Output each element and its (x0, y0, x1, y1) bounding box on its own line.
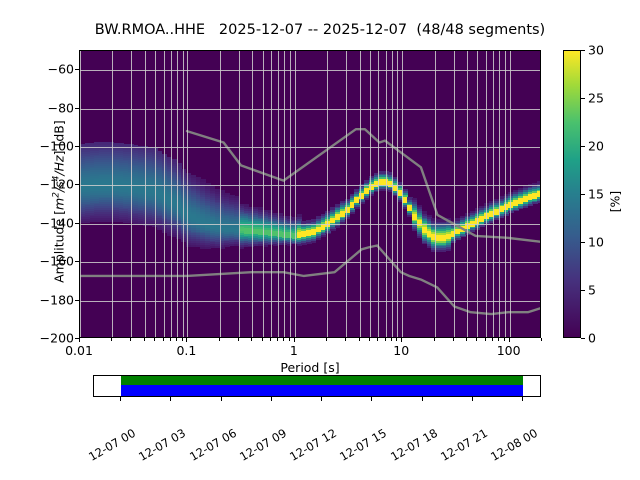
low-noise-model-curve (80, 245, 540, 314)
noise-model-curves (80, 51, 540, 337)
gridline-vertical-minor (486, 51, 487, 337)
gridline-vertical-minor (477, 51, 478, 337)
x-tick (294, 338, 295, 342)
x-tick-minor (504, 338, 505, 341)
gridline-vertical-minor (112, 51, 113, 337)
colorbar-ticklabel: 25 (588, 91, 604, 106)
gridline-vertical-minor (467, 51, 468, 337)
gridline-vertical-minor (278, 51, 279, 337)
x-tick-minor (377, 338, 378, 341)
coverage-tick (221, 397, 222, 401)
coverage-ticklabel: 12-07 06 (187, 426, 239, 464)
y-tick (75, 146, 79, 147)
gridline-horizontal (80, 224, 540, 225)
gridline-horizontal (80, 185, 540, 186)
y-tick (75, 338, 79, 339)
x-tick-minor (130, 338, 131, 341)
coverage-bar-green (121, 376, 523, 385)
coverage-ticklabel: 12-07 18 (388, 426, 440, 464)
x-tick-minor (345, 338, 346, 341)
x-tick-minor (111, 338, 112, 341)
x-tick-minor (498, 338, 499, 341)
x-axis-title: Period [s] (79, 360, 541, 375)
y-tick (75, 108, 79, 109)
gridline-vertical-minor (454, 51, 455, 337)
x-tick-minor (476, 338, 477, 341)
x-tick (186, 338, 187, 342)
gridline-vertical (402, 51, 403, 337)
x-tick-minor (270, 338, 271, 341)
colorbar-ticklabel: 15 (588, 187, 604, 202)
ppsd-figure: BW.RMOA..HHE 2025-12-07 -- 2025-12-07 (4… (0, 0, 640, 480)
x-tick-minor (385, 338, 386, 341)
y-axis-unit-s: /s (52, 181, 67, 192)
gridline-vertical-minor (252, 51, 253, 337)
figure-title: BW.RMOA..HHE 2025-12-07 -- 2025-12-07 (4… (0, 22, 640, 38)
x-tick-minor (541, 338, 542, 341)
coverage-tick (522, 397, 523, 401)
coverage-ticklabel: 12-08 00 (488, 426, 540, 464)
gridline-vertical-minor (155, 51, 156, 337)
y-axis-title: Amplitude [m2/s4/Hz] [dB] (51, 57, 66, 347)
x-tick-minor (391, 338, 392, 341)
coverage-ticklabel: 12-07 21 (438, 426, 490, 464)
coverage-tick (120, 397, 121, 401)
colorbar-ticklabel: 10 (588, 235, 604, 250)
colorbar-ticklabel: 0 (588, 331, 596, 346)
x-tick-minor (182, 338, 183, 341)
gridline-vertical-minor (378, 51, 379, 337)
y-tick (75, 69, 79, 70)
coverage-tick (271, 397, 272, 401)
colorbar-tick (581, 146, 585, 147)
y-axis-title-prefix: Amplitude [ (52, 210, 67, 283)
gridline-vertical-minor (271, 51, 272, 337)
x-ticklabel: 10 (393, 343, 409, 358)
gridline-vertical-minor (145, 51, 146, 337)
y-axis-unit-m: m (52, 198, 67, 210)
colorbar-title: [%] (607, 191, 622, 213)
gridline-horizontal (80, 109, 540, 110)
x-tick-minor (277, 338, 278, 341)
coverage-bar-blue (121, 385, 523, 396)
gridline-horizontal (80, 262, 540, 263)
gridline-vertical-minor (290, 51, 291, 337)
gridline-horizontal (80, 301, 540, 302)
x-tick-minor (262, 338, 263, 341)
gridline-vertical (187, 51, 188, 337)
gridline-vertical-minor (505, 51, 506, 337)
x-tick-minor (453, 338, 454, 341)
gridline-vertical-minor (346, 51, 347, 337)
y-tick (75, 184, 79, 185)
x-tick-minor (154, 338, 155, 341)
gridline-horizontal (80, 147, 540, 148)
y-axis-unit-hz: /Hz (52, 155, 67, 175)
x-tick-minor (238, 338, 239, 341)
coverage-tick (371, 397, 372, 401)
x-ticklabel: 1 (290, 343, 298, 358)
coverage-tick (321, 397, 322, 401)
gridline-vertical-minor (397, 51, 398, 337)
x-tick-minor (219, 338, 220, 341)
colorbar[interactable] (563, 50, 581, 338)
x-tick-minor (434, 338, 435, 341)
x-tick-minor (283, 338, 284, 341)
y-tick (75, 261, 79, 262)
gridline-vertical (295, 51, 296, 337)
x-tick-minor (144, 338, 145, 341)
colorbar-tick (581, 194, 585, 195)
gridline-vertical-minor (284, 51, 285, 337)
colorbar-tick (581, 338, 585, 339)
colorbar-ticklabel: 5 (588, 283, 596, 298)
x-tick (79, 338, 80, 342)
colorbar-tick (581, 290, 585, 291)
x-tick-minor (176, 338, 177, 341)
x-ticklabel: 100 (497, 343, 521, 358)
y-tick (75, 223, 79, 224)
gridline-vertical-minor (360, 51, 361, 337)
colorbar-tick (581, 242, 585, 243)
gridline-vertical-minor (177, 51, 178, 337)
gridline-vertical-minor (171, 51, 172, 337)
gridline-vertical (80, 51, 81, 337)
x-tick-minor (396, 338, 397, 341)
colorbar-ticklabel: 30 (588, 43, 604, 58)
y-tick (75, 300, 79, 301)
gridline-vertical-minor (239, 51, 240, 337)
gridline-vertical-minor (435, 51, 436, 337)
colorbar-tick (581, 50, 585, 51)
x-ticklabel: 0.1 (176, 343, 196, 358)
coverage-ticklabel: 12-07 12 (287, 426, 339, 464)
gridline-vertical-minor (164, 51, 165, 337)
gridline-vertical-minor (131, 51, 132, 337)
gridline-vertical-minor (493, 51, 494, 337)
coverage-ticklabel: 12-07 00 (86, 426, 138, 464)
gridline-vertical-minor (183, 51, 184, 337)
gridline-vertical (510, 51, 511, 337)
gridline-vertical-minor (263, 51, 264, 337)
x-tick-minor (289, 338, 290, 341)
y-axis-title-suffix: ] [dB] (52, 120, 67, 155)
y-axis-unit-exp-4: 4 (51, 176, 61, 182)
x-tick-minor (466, 338, 467, 341)
coverage-tick (170, 397, 171, 401)
coverage-ticklabel: 12-07 15 (337, 426, 389, 464)
gridline-vertical-minor (370, 51, 371, 337)
x-tick-minor (359, 338, 360, 341)
x-tick-minor (492, 338, 493, 341)
x-tick-minor (369, 338, 370, 341)
x-tick-minor (251, 338, 252, 341)
colorbar-tick (581, 98, 585, 99)
coverage-ticklabel: 12-07 09 (237, 426, 289, 464)
gridline-vertical-minor (392, 51, 393, 337)
coverage-axes[interactable] (93, 375, 541, 397)
x-tick-minor (485, 338, 486, 341)
x-tick (509, 338, 510, 342)
colorbar-ticklabel: 20 (588, 139, 604, 154)
x-tick-minor (326, 338, 327, 341)
gridline-vertical-minor (220, 51, 221, 337)
ppsd-plot-area[interactable] (79, 50, 541, 338)
gridline-vertical-minor (499, 51, 500, 337)
gridline-vertical-minor (386, 51, 387, 337)
coverage-tick (472, 397, 473, 401)
gridline-vertical-minor (327, 51, 328, 337)
x-tick-minor (163, 338, 164, 341)
gridline-horizontal (80, 70, 540, 71)
coverage-ticklabel: 12-07 03 (136, 426, 188, 464)
x-tick (401, 338, 402, 342)
coverage-tick (422, 397, 423, 401)
x-tick-minor (170, 338, 171, 341)
y-axis-unit-exp-2: 2 (51, 192, 61, 198)
